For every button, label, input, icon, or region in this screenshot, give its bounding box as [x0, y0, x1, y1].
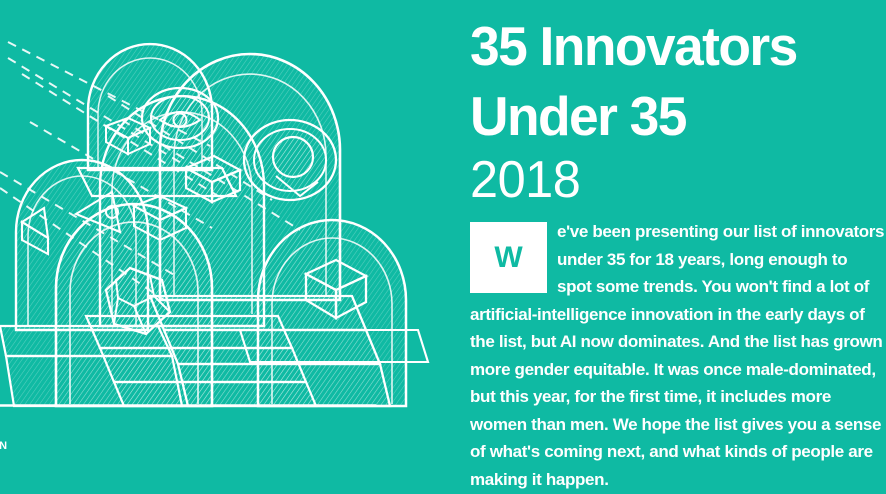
- page-title: 35 Innovators Under 35: [470, 11, 886, 151]
- year-subtitle: 2018: [470, 152, 580, 208]
- drop-cap: W: [470, 222, 547, 293]
- content-panel: 35 Innovators Under 35 2018 W e've been …: [470, 0, 886, 494]
- innovators-under-35-cover-page: SON 35 Innovators Under 35 2018 W e've b…: [0, 0, 886, 494]
- figure-front-center: [56, 204, 212, 406]
- illustration-credit: SON: [0, 440, 8, 452]
- circle-emblem: [244, 120, 336, 200]
- intro-paragraph-block: W e've been presenting our list of innov…: [470, 218, 886, 493]
- abstract-arched-figures-illustration: [0, 0, 460, 494]
- illustration-panel: SON: [0, 0, 460, 494]
